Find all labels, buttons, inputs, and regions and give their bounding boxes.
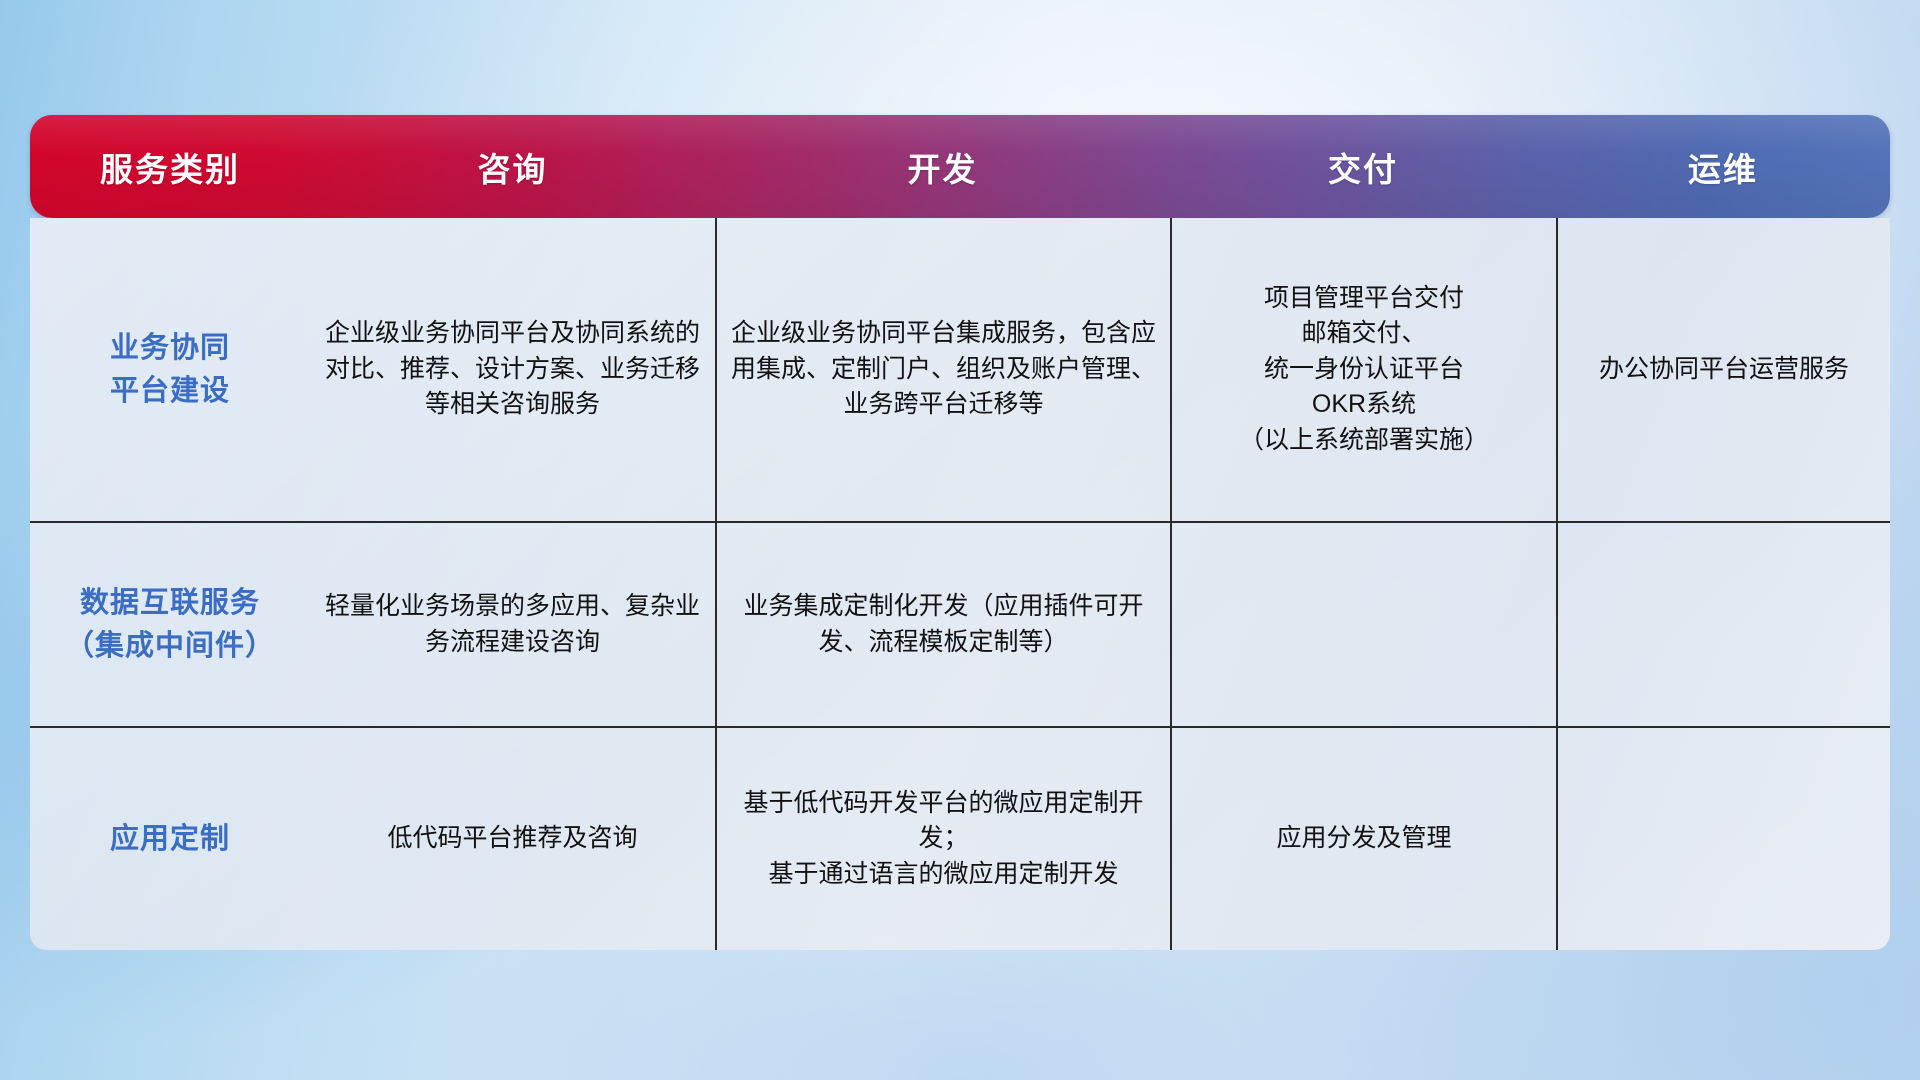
table-row: 数据互联服务 （集成中间件） 轻量化业务场景的多应用、复杂业务流程建设咨询 业务… bbox=[30, 523, 1890, 728]
service-matrix-table: 服务类别 咨询 开发 交付 运维 业务协同 平台建设 企业级业务协同平台及协同系… bbox=[30, 115, 1890, 950]
cell-category: 应用定制 bbox=[30, 728, 310, 950]
cell-category: 业务协同 平台建设 bbox=[30, 218, 310, 521]
cell-development: 基于低代码开发平台的微应用定制开发； 基于通过语言的微应用定制开发 bbox=[715, 728, 1170, 950]
table-row: 业务协同 平台建设 企业级业务协同平台及协同系统的对比、推荐、设计方案、业务迁移… bbox=[30, 218, 1890, 523]
column-header-category: 服务类别 bbox=[30, 115, 310, 218]
cell-category: 数据互联服务 （集成中间件） bbox=[30, 523, 310, 726]
table-row: 应用定制 低代码平台推荐及咨询 基于低代码开发平台的微应用定制开发； 基于通过语… bbox=[30, 728, 1890, 950]
table-body: 业务协同 平台建设 企业级业务协同平台及协同系统的对比、推荐、设计方案、业务迁移… bbox=[30, 218, 1890, 950]
cell-development: 企业级业务协同平台集成服务，包含应用集成、定制门户、组织及账户管理、业务跨平台迁… bbox=[715, 218, 1170, 521]
column-header-consulting: 咨询 bbox=[310, 115, 715, 218]
cell-delivery: 项目管理平台交付 邮箱交付、 统一身份认证平台 OKR系统 （以上系统部署实施） bbox=[1170, 218, 1556, 521]
cell-operations: 办公协同平台运营服务 bbox=[1556, 218, 1890, 521]
cell-operations bbox=[1556, 523, 1890, 726]
column-header-delivery: 交付 bbox=[1170, 115, 1556, 218]
cell-consulting: 轻量化业务场景的多应用、复杂业务流程建设咨询 bbox=[310, 523, 715, 726]
cell-delivery bbox=[1170, 523, 1556, 726]
cell-consulting: 低代码平台推荐及咨询 bbox=[310, 728, 715, 950]
column-header-operations: 运维 bbox=[1556, 115, 1890, 218]
cell-delivery: 应用分发及管理 bbox=[1170, 728, 1556, 950]
column-header-development: 开发 bbox=[715, 115, 1170, 218]
cell-operations bbox=[1556, 728, 1890, 950]
cell-consulting: 企业级业务协同平台及协同系统的对比、推荐、设计方案、业务迁移等相关咨询服务 bbox=[310, 218, 715, 521]
cell-development: 业务集成定制化开发（应用插件可开发、流程模板定制等） bbox=[715, 523, 1170, 726]
table-header-row: 服务类别 咨询 开发 交付 运维 bbox=[30, 115, 1890, 218]
